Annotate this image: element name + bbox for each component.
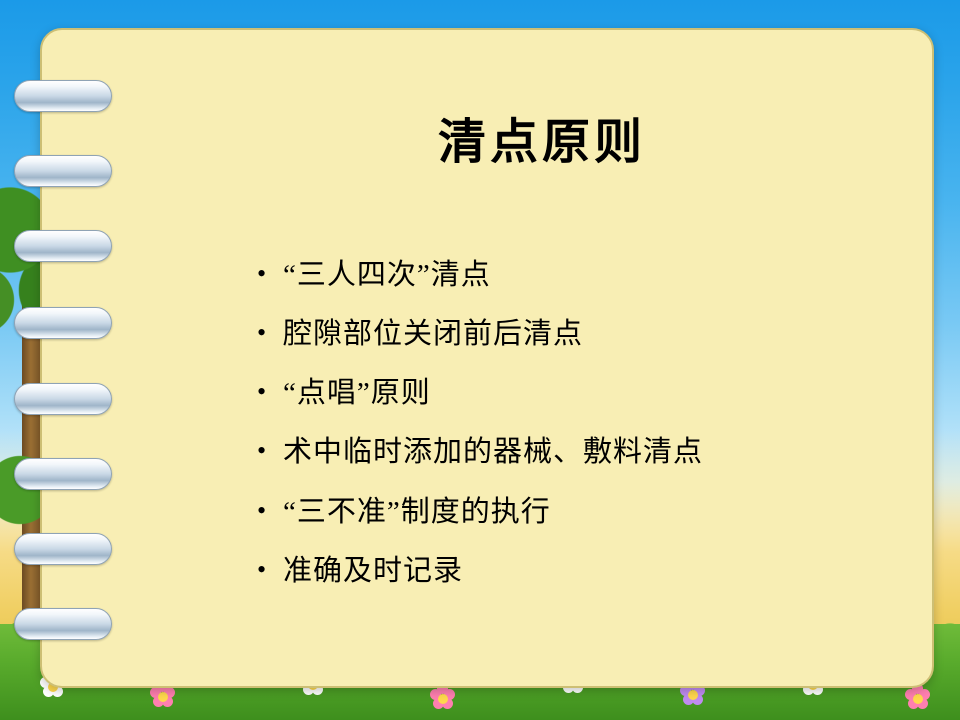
bullet-list: • “三人四次”清点 • 腔隙部位关闭前后清点 • “点唱”原则 • 术中临时添… — [257, 256, 897, 611]
list-item-label: “点唱”原则 — [283, 374, 897, 413]
bullet-marker-icon: • — [257, 433, 283, 468]
binder-ring-2 — [14, 155, 112, 187]
list-item-label: 准确及时记录 — [283, 552, 897, 591]
binder-ring-5 — [14, 383, 112, 415]
bullet-marker-icon: • — [257, 493, 283, 528]
list-item: • “三不准”制度的执行 — [257, 493, 897, 532]
list-item: • “三人四次”清点 — [257, 256, 897, 295]
bullet-marker-icon: • — [257, 374, 283, 409]
bullet-marker-icon: • — [257, 552, 283, 587]
binder-ring-1 — [14, 80, 112, 112]
list-item-label: 腔隙部位关闭前后清点 — [283, 315, 897, 354]
list-item-label: “三不准”制度的执行 — [283, 493, 897, 532]
binder-ring-4 — [14, 307, 112, 339]
binder-ring-6 — [14, 458, 112, 490]
flower-icon — [905, 686, 931, 712]
binder-ring-8 — [14, 608, 112, 640]
list-item: • 准确及时记录 — [257, 552, 897, 591]
list-item: • 腔隙部位关闭前后清点 — [257, 315, 897, 354]
bullet-marker-icon: • — [257, 315, 283, 350]
slide-title: 清点原则 — [192, 102, 892, 172]
flower-icon — [430, 686, 456, 712]
binder-ring-7 — [14, 533, 112, 565]
bullet-marker-icon: • — [257, 256, 283, 291]
notebook-paper: 清点原则 • “三人四次”清点 • 腔隙部位关闭前后清点 • “点唱”原则 • … — [40, 28, 934, 688]
list-item: • “点唱”原则 — [257, 374, 897, 413]
list-item-label: “三人四次”清点 — [283, 256, 897, 295]
slide-canvas: 清点原则 • “三人四次”清点 • 腔隙部位关闭前后清点 • “点唱”原则 • … — [0, 0, 960, 720]
list-item-label: 术中临时添加的器械、敷料清点 — [283, 433, 897, 472]
binder-ring-3 — [14, 230, 112, 262]
list-item: • 术中临时添加的器械、敷料清点 — [257, 433, 897, 472]
